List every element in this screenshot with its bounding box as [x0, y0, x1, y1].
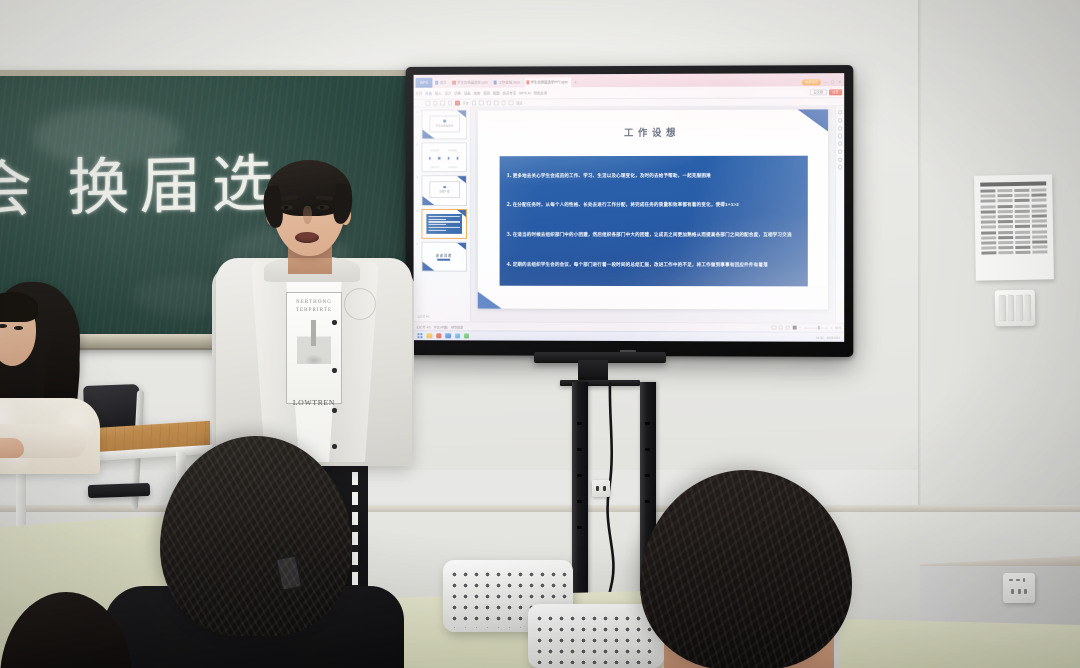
- thumbnail-caption: 谢谢观看: [436, 253, 453, 258]
- document-tab-active[interactable]: 学生会换届选举PPT.pptx: [524, 77, 571, 87]
- black-chair-seat: [88, 483, 150, 498]
- zoom-out-button[interactable]: −: [799, 326, 801, 330]
- slide-number: 3: [417, 176, 420, 180]
- normal-view-icon[interactable]: [772, 325, 776, 329]
- tag-icon[interactable]: [838, 126, 842, 130]
- wps-icon[interactable]: [436, 333, 441, 338]
- ribbon-tab-view[interactable]: 视图: [493, 90, 500, 95]
- file-explorer-icon[interactable]: [427, 333, 432, 338]
- toolbar-layout-label[interactable]: 版式: [516, 100, 522, 105]
- document-tab-label: 工作总结.docx: [499, 80, 520, 85]
- right-tool-rail[interactable]: [835, 106, 844, 322]
- bullet-text: 定期的去组织学生会的会议，每个部门进行着一段时间的总结汇报，改进工作中的不足，将…: [513, 262, 768, 269]
- ribbon-actions: 云文档 分享: [810, 89, 842, 95]
- format-painter-icon[interactable]: [448, 101, 452, 105]
- vip-badge[interactable]: 会员专享: [802, 79, 821, 84]
- tshirt-word: LOWTREN: [276, 398, 352, 407]
- badge-icon: [443, 120, 446, 123]
- pen-icon[interactable]: [838, 110, 842, 114]
- jacket-button: [332, 320, 337, 325]
- slide-number: 1: [417, 110, 420, 114]
- slide-thumbnail-4[interactable]: [421, 209, 467, 239]
- jacket-button: [332, 408, 337, 413]
- ribbon-tab-list: 文件 开始 插入 设计 切换 动画 放映 审阅 视图 会员专享 WPS AI 特…: [414, 90, 548, 95]
- ribbon-tab-insert[interactable]: 插入: [435, 91, 442, 96]
- ribbon-tab-slideshow[interactable]: 放映: [474, 91, 481, 96]
- badge-icon: [443, 186, 446, 189]
- bold-icon[interactable]: [472, 101, 476, 105]
- bullet-number: 4.: [507, 262, 512, 269]
- tv-stand-post-left: [572, 382, 588, 628]
- doc-type-icon: [526, 80, 529, 84]
- bullet-text: 在分配任务时，从每个人的性格、长处去进行工作分配，将完成任务的质量和效率都有着的…: [513, 202, 739, 209]
- thumbnail-thanks-block: 谢谢观看: [422, 243, 466, 271]
- switch-toggle-3[interactable]: [1016, 295, 1023, 321]
- light-switch-panel[interactable]: [995, 290, 1036, 327]
- jacket-emblem: [344, 288, 376, 320]
- document-tab[interactable]: 首页: [433, 78, 449, 88]
- sorter-view-icon[interactable]: [779, 325, 783, 329]
- thumbnail-text-panel: [426, 214, 462, 234]
- foreground-table-right: [840, 619, 1080, 668]
- switch-toggle-4[interactable]: [1024, 295, 1031, 321]
- wall-power-outlet: [1003, 573, 1035, 603]
- align-icon[interactable]: [501, 101, 505, 105]
- doc-type-icon: [494, 80, 497, 84]
- doc-type-icon: [435, 81, 438, 85]
- document-tab-label: 学生会换届选举.pptx: [457, 80, 488, 85]
- status-spellcheck[interactable]: 拼写检查: [451, 324, 463, 329]
- slide-bullet: 2. 在分配任务时，从每个人的性格、长处去进行工作分配，将完成任务的质量和效率都…: [507, 202, 801, 209]
- chair-perforation: [534, 613, 658, 664]
- thumbnail-caption-row: [426, 166, 461, 168]
- eye-right: [317, 205, 329, 210]
- ribbon-tab-home[interactable]: 开始: [425, 91, 432, 96]
- hair-texture: [640, 470, 852, 668]
- search-icon[interactable]: [838, 165, 842, 169]
- redo-icon[interactable]: [433, 101, 437, 105]
- gear-icon[interactable]: [838, 157, 842, 161]
- slide-title[interactable]: 工作设想: [478, 124, 827, 139]
- status-right-group: − + 66%: [772, 325, 842, 330]
- slide-thumbnail-3[interactable]: 自我介绍: [421, 176, 467, 206]
- mouth-speaking: [295, 232, 319, 243]
- current-slide[interactable]: 工作设想 1. 更多地去关心学生会成员的工作、学习、生活以及心理变化，及时的去给…: [478, 109, 827, 309]
- switch-toggle-2[interactable]: [1007, 295, 1014, 321]
- nose: [303, 206, 312, 224]
- tshirt-text-line2: TERPRIRTE: [296, 307, 332, 315]
- slide-number: 5: [417, 242, 420, 246]
- document-tab-label: 学生会换届选举PPT.pptx: [531, 79, 568, 84]
- interactive-flat-panel-display: WPS 首页 学生会换届选举.pptx 工作总结.docx: [406, 65, 854, 357]
- zoom-slider[interactable]: [804, 327, 828, 328]
- eye: [0, 324, 7, 328]
- thumbnail-title-box: 自我介绍: [429, 181, 459, 198]
- slide-thumbnail-panel[interactable]: 1 学生会换届选举 2: [414, 107, 471, 321]
- font-color-icon[interactable]: [494, 101, 498, 105]
- document-tab-label: 首页: [440, 80, 447, 85]
- ribbon-tab-file[interactable]: 文件: [416, 91, 423, 96]
- zoom-level-label[interactable]: 66%: [835, 326, 841, 330]
- editor-workspace: 1 学生会换届选举 2: [414, 106, 845, 322]
- eye-left: [281, 205, 293, 210]
- jacket-button: [332, 368, 337, 373]
- bullet-number: 3.: [507, 232, 512, 239]
- slideshow-icon[interactable]: [792, 325, 796, 329]
- ribbon-tab-animation[interactable]: 动画: [464, 91, 471, 96]
- head-back: [640, 470, 852, 668]
- paste-icon[interactable]: [440, 101, 444, 105]
- slide-thumbnail-item[interactable]: 5 谢谢观看: [417, 242, 467, 272]
- slide-content-panel[interactable]: 1. 更多地去关心学生会成员的工作、学习、生活以及心理变化，及时的去给予帮助，一…: [500, 155, 808, 286]
- slide-thumbnail-item-selected[interactable]: 4: [417, 209, 467, 239]
- bullets-icon[interactable]: [509, 101, 513, 105]
- wall-notice-sheet: [974, 174, 1054, 280]
- bullet-text: 在适当的时候去组织部门中的小团建，然后组织各部门中大的团建，让成员之间更加熟络从…: [513, 232, 792, 239]
- slide-thumbnail-2[interactable]: [421, 143, 467, 173]
- thumbnail-header-row: [426, 149, 461, 152]
- jacket-button: [332, 444, 337, 449]
- tshirt-graphic-panel: NERTHONG TERPRIRTE: [286, 292, 342, 404]
- tshirt-illustration: [297, 318, 331, 364]
- slide-thumbnail-1[interactable]: 学生会换届选举: [421, 109, 467, 139]
- switch-toggle-1[interactable]: [999, 295, 1006, 321]
- start-button-icon[interactable]: [418, 333, 423, 338]
- ribbon-bar: 文件 开始 插入 设计 切换 动画 放映 审阅 视图 会员专享 WPS AI 特…: [414, 86, 845, 100]
- classroom-presentation-scene: 会 换届选: [0, 0, 1080, 668]
- slide-number: 4: [417, 209, 420, 213]
- tv-stand-bracket: [578, 360, 608, 382]
- slide-thumbnail-5[interactable]: 谢谢观看: [421, 242, 467, 272]
- new-tab-button[interactable]: +: [572, 80, 579, 87]
- blackboard-chalk-text: 会 换届选: [0, 133, 300, 230]
- list-icon[interactable]: [838, 118, 842, 122]
- slide-number: 2: [417, 143, 420, 147]
- underline-icon[interactable]: [487, 101, 491, 105]
- slide-bullet: 1. 更多地去关心学生会成员的工作、学习、生活以及心理变化，及时的去给予帮助，一…: [507, 172, 801, 179]
- eye: [14, 326, 23, 330]
- thumbnail-caption: 自我介绍: [439, 190, 449, 194]
- wps-presentation-window: WPS 首页 学生会换届选举.pptx 工作总结.docx: [414, 73, 845, 342]
- ribbon-tab-wps-ai[interactable]: WPS AI: [519, 91, 531, 95]
- taskbar-date[interactable]: 2024/3/21: [827, 335, 841, 339]
- document-tab[interactable]: 学生会换届选举.pptx: [451, 78, 491, 88]
- white-chair-back-2: [528, 604, 664, 668]
- italic-icon[interactable]: [479, 101, 483, 105]
- qq-icon[interactable]: [455, 333, 460, 338]
- thumbnail-underline: [438, 259, 451, 261]
- image-icon[interactable]: [838, 142, 842, 146]
- close-icon[interactable]: ✕: [837, 79, 842, 84]
- slide-thumbnail-item[interactable]: 1 学生会换届选举: [417, 109, 467, 139]
- ribbon-tab-vip[interactable]: 会员专享: [503, 90, 516, 95]
- status-page-indicator: 幻灯片 4/5: [417, 324, 431, 329]
- bullet-number: 1.: [507, 173, 512, 180]
- bullet-number: 2.: [507, 202, 512, 209]
- windows-taskbar: 14:32 2024/3/21: [414, 330, 845, 342]
- ribbon-tab-design[interactable]: 设计: [445, 91, 452, 96]
- thumbnail-title-box: 学生会换届选举: [429, 115, 459, 132]
- cloud-doc-button[interactable]: 云文档: [810, 89, 827, 95]
- thumbnail-caption: 学生会换届选举: [436, 124, 454, 128]
- status-language[interactable]: 中文(中国): [434, 324, 448, 329]
- document-tab[interactable]: 工作总结.docx: [492, 77, 523, 87]
- ribbon-tab-review[interactable]: 审阅: [483, 91, 490, 96]
- taskbar-clock[interactable]: 14:32: [816, 335, 824, 339]
- slide-decor-triangle-bottomleft: [478, 291, 502, 308]
- share-button[interactable]: 分享: [829, 89, 843, 95]
- new-slide-icon[interactable]: [455, 101, 459, 105]
- tshirt-text-line1: NERTHONG: [296, 299, 332, 307]
- bullet-text: 更多地去关心学生会成员的工作、学习、生活以及心理变化，及时的去给予帮助，一起克服…: [513, 172, 711, 179]
- wall-corner-edge: [918, 0, 922, 560]
- thumbnail-icon-row: [425, 156, 462, 159]
- tv-power-cable: [596, 382, 636, 618]
- minimize-icon[interactable]: —: [823, 80, 828, 85]
- zoom-in-button[interactable]: +: [831, 326, 833, 330]
- sparkle-icon[interactable]: [838, 150, 842, 154]
- doc-type-icon: [453, 81, 456, 85]
- slide-bullet: 4. 定期的去组织学生会的会议，每个部门进行着一段时间的总结汇报，改进工作中的不…: [507, 262, 801, 269]
- taskbar-tray: 14:32 2024/3/21: [816, 335, 840, 339]
- reading-view-icon[interactable]: [785, 325, 789, 329]
- wechat-icon[interactable]: [464, 333, 469, 338]
- tv-screen[interactable]: WPS 首页 学生会换届选举.pptx 工作总结.docx: [414, 73, 845, 342]
- toolbar-font-label: 字体: [462, 101, 468, 106]
- slide-thumbnail-item[interactable]: 2: [417, 143, 467, 173]
- slide-canvas-area[interactable]: 工作设想 1. 更多地去关心学生会成员的工作、学习、生活以及心理变化，及时的去给…: [471, 106, 835, 322]
- hand: [0, 438, 24, 458]
- maximize-icon[interactable]: ▢: [830, 79, 835, 84]
- undo-icon[interactable]: [425, 101, 429, 105]
- wps-app-button[interactable]: WPS: [416, 78, 433, 88]
- window-controls-group: 会员专享 — ▢ ✕: [802, 79, 842, 85]
- slide-thumbnail-item[interactable]: 3 自我介绍: [417, 176, 467, 206]
- ribbon-tab-transition[interactable]: 切换: [454, 91, 461, 96]
- ribbon-tab-special-apps[interactable]: 特色应用: [534, 90, 547, 95]
- shapes-icon[interactable]: [838, 134, 842, 138]
- slide-bullet: 3. 在适当的时候去组织部门中的小团建，然后组织各部门中大的团建，让成员之间更加…: [507, 232, 801, 239]
- floor-power-outlet: [592, 480, 610, 497]
- thumbnail-panel-footer: 幻灯片 4/5: [417, 313, 467, 319]
- browser-icon[interactable]: [445, 333, 450, 338]
